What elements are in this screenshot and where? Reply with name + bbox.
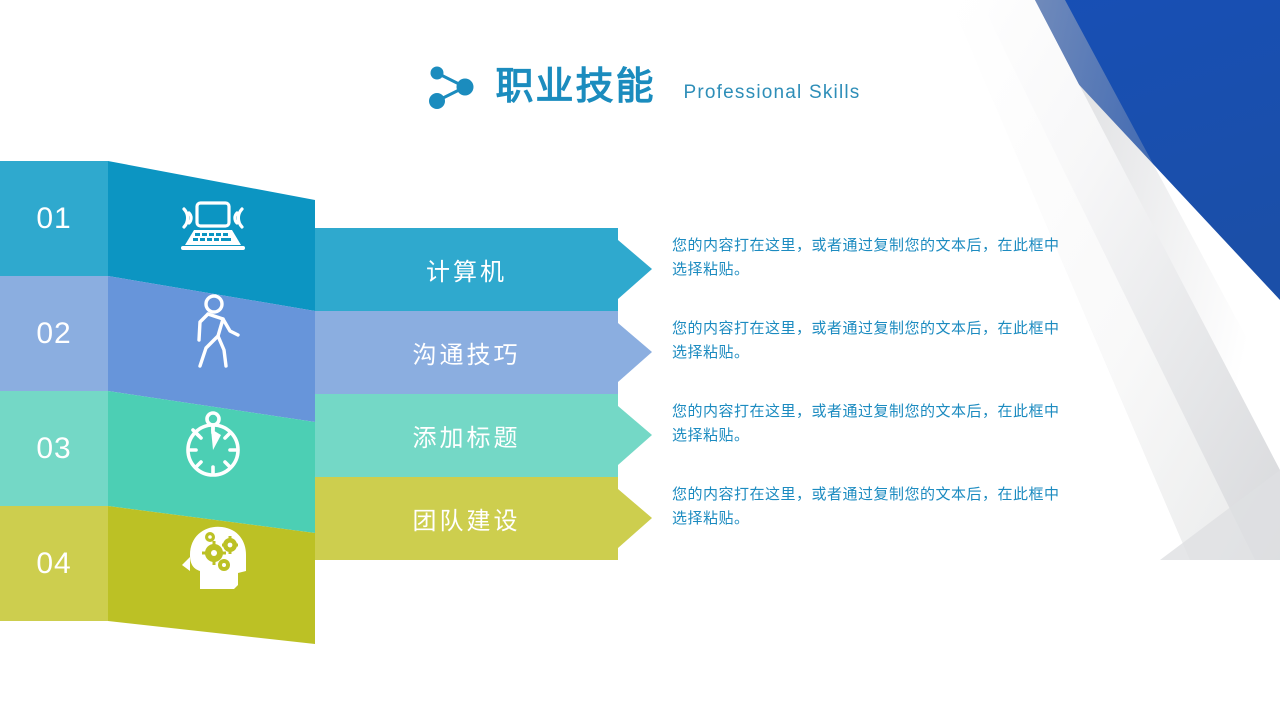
row-2-desc-cell: 您的内容打在这里，或者通过复制您的文本后，在此框中选择粘贴。 <box>672 311 1092 394</box>
head-gears-icon <box>170 515 256 597</box>
row-1-title: 计算机 <box>426 252 507 287</box>
row-1-icon-cell <box>108 166 318 281</box>
row-1-title-cell: 计算机 <box>315 228 618 311</box>
row-3-title: 添加标题 <box>413 418 521 453</box>
row-2-title-cell: 沟通技巧 <box>315 311 618 394</box>
stopwatch-icon <box>175 405 251 483</box>
laptop-wireless-icon <box>167 193 259 255</box>
row-4-title: 团队建设 <box>413 501 521 536</box>
row-3-description: 您的内容打在这里，或者通过复制您的文本后，在此框中选择粘贴。 <box>672 400 1072 448</box>
title-column: 计算机 沟通技巧 添加标题 团队建设 <box>315 228 655 560</box>
row-2-icon-cell <box>108 274 318 389</box>
number-column: 01 02 03 04 <box>0 161 108 621</box>
row-2-number: 02 <box>0 276 108 391</box>
row-2-title: 沟通技巧 <box>413 335 521 370</box>
icon-column <box>108 150 318 630</box>
row-3-icon-cell <box>108 386 318 501</box>
row-4-number: 04 <box>0 506 108 621</box>
skills-infographic: 01 02 03 04 <box>0 0 1280 720</box>
row-1-description: 您的内容打在这里，或者通过复制您的文本后，在此框中选择粘贴。 <box>672 234 1072 282</box>
row-2-description: 您的内容打在这里，或者通过复制您的文本后，在此框中选择粘贴。 <box>672 317 1072 365</box>
description-column: 您的内容打在这里，或者通过复制您的文本后，在此框中选择粘贴。 您的内容打在这里，… <box>672 228 1092 560</box>
row-1-desc-cell: 您的内容打在这里，或者通过复制您的文本后，在此框中选择粘贴。 <box>672 228 1092 311</box>
walking-person-icon <box>178 292 248 372</box>
row-4-desc-cell: 您的内容打在这里，或者通过复制您的文本后，在此框中选择粘贴。 <box>672 477 1092 560</box>
row-4-icon-cell <box>108 498 318 613</box>
row-1-number: 01 <box>0 161 108 276</box>
row-3-title-cell: 添加标题 <box>315 394 618 477</box>
row-4-description: 您的内容打在这里，或者通过复制您的文本后，在此框中选择粘贴。 <box>672 483 1072 531</box>
row-4-title-cell: 团队建设 <box>315 477 618 560</box>
row-3-number: 03 <box>0 391 108 506</box>
row-3-desc-cell: 您的内容打在这里，或者通过复制您的文本后，在此框中选择粘贴。 <box>672 394 1092 477</box>
